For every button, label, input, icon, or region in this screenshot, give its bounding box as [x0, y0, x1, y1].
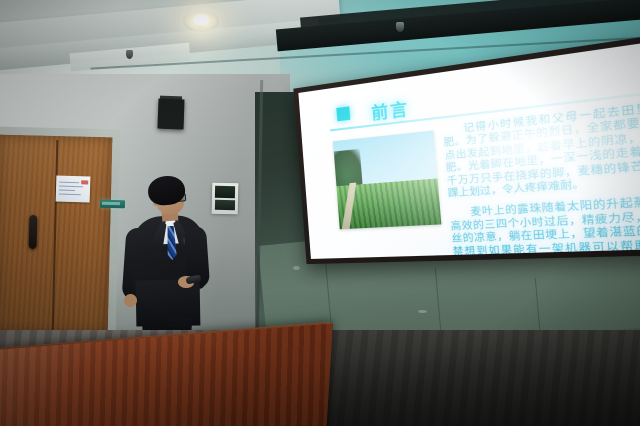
wall-panel-keypad[interactable] — [215, 200, 235, 210]
wall-scuff — [418, 310, 427, 313]
door-notice-paper — [56, 175, 91, 202]
square-bullet-icon — [336, 106, 350, 121]
floor-shadow — [300, 330, 640, 426]
screenshot-root: 前言 记得小时候我和父母一起去田里面撒化肥。为了躲避正午的烈日，全家都要凌晨五六… — [0, 0, 640, 426]
slide-paragraph-2: 麦叶上的露珠随着太阳的升起蒸发殆尽，高效的三四个小时过后，精疲力尽，睡不上一丝的… — [449, 193, 640, 259]
wall-scuff — [293, 266, 300, 270]
corn-field-photo — [333, 130, 441, 229]
ceiling-sprinkler-icon — [126, 50, 133, 59]
notice-red-mark — [81, 180, 88, 184]
slide-body-text: 记得小时候我和父母一起去田里面撒化肥。为了躲避正午的烈日，全家都要凌晨五六点出发… — [442, 97, 640, 259]
door-handle[interactable] — [29, 215, 38, 249]
ceiling-sprinkler-icon-right — [396, 22, 404, 32]
wall-speaker — [157, 99, 184, 130]
wall-panel-display — [215, 186, 235, 198]
ceiling-spotlight-core — [193, 14, 209, 25]
